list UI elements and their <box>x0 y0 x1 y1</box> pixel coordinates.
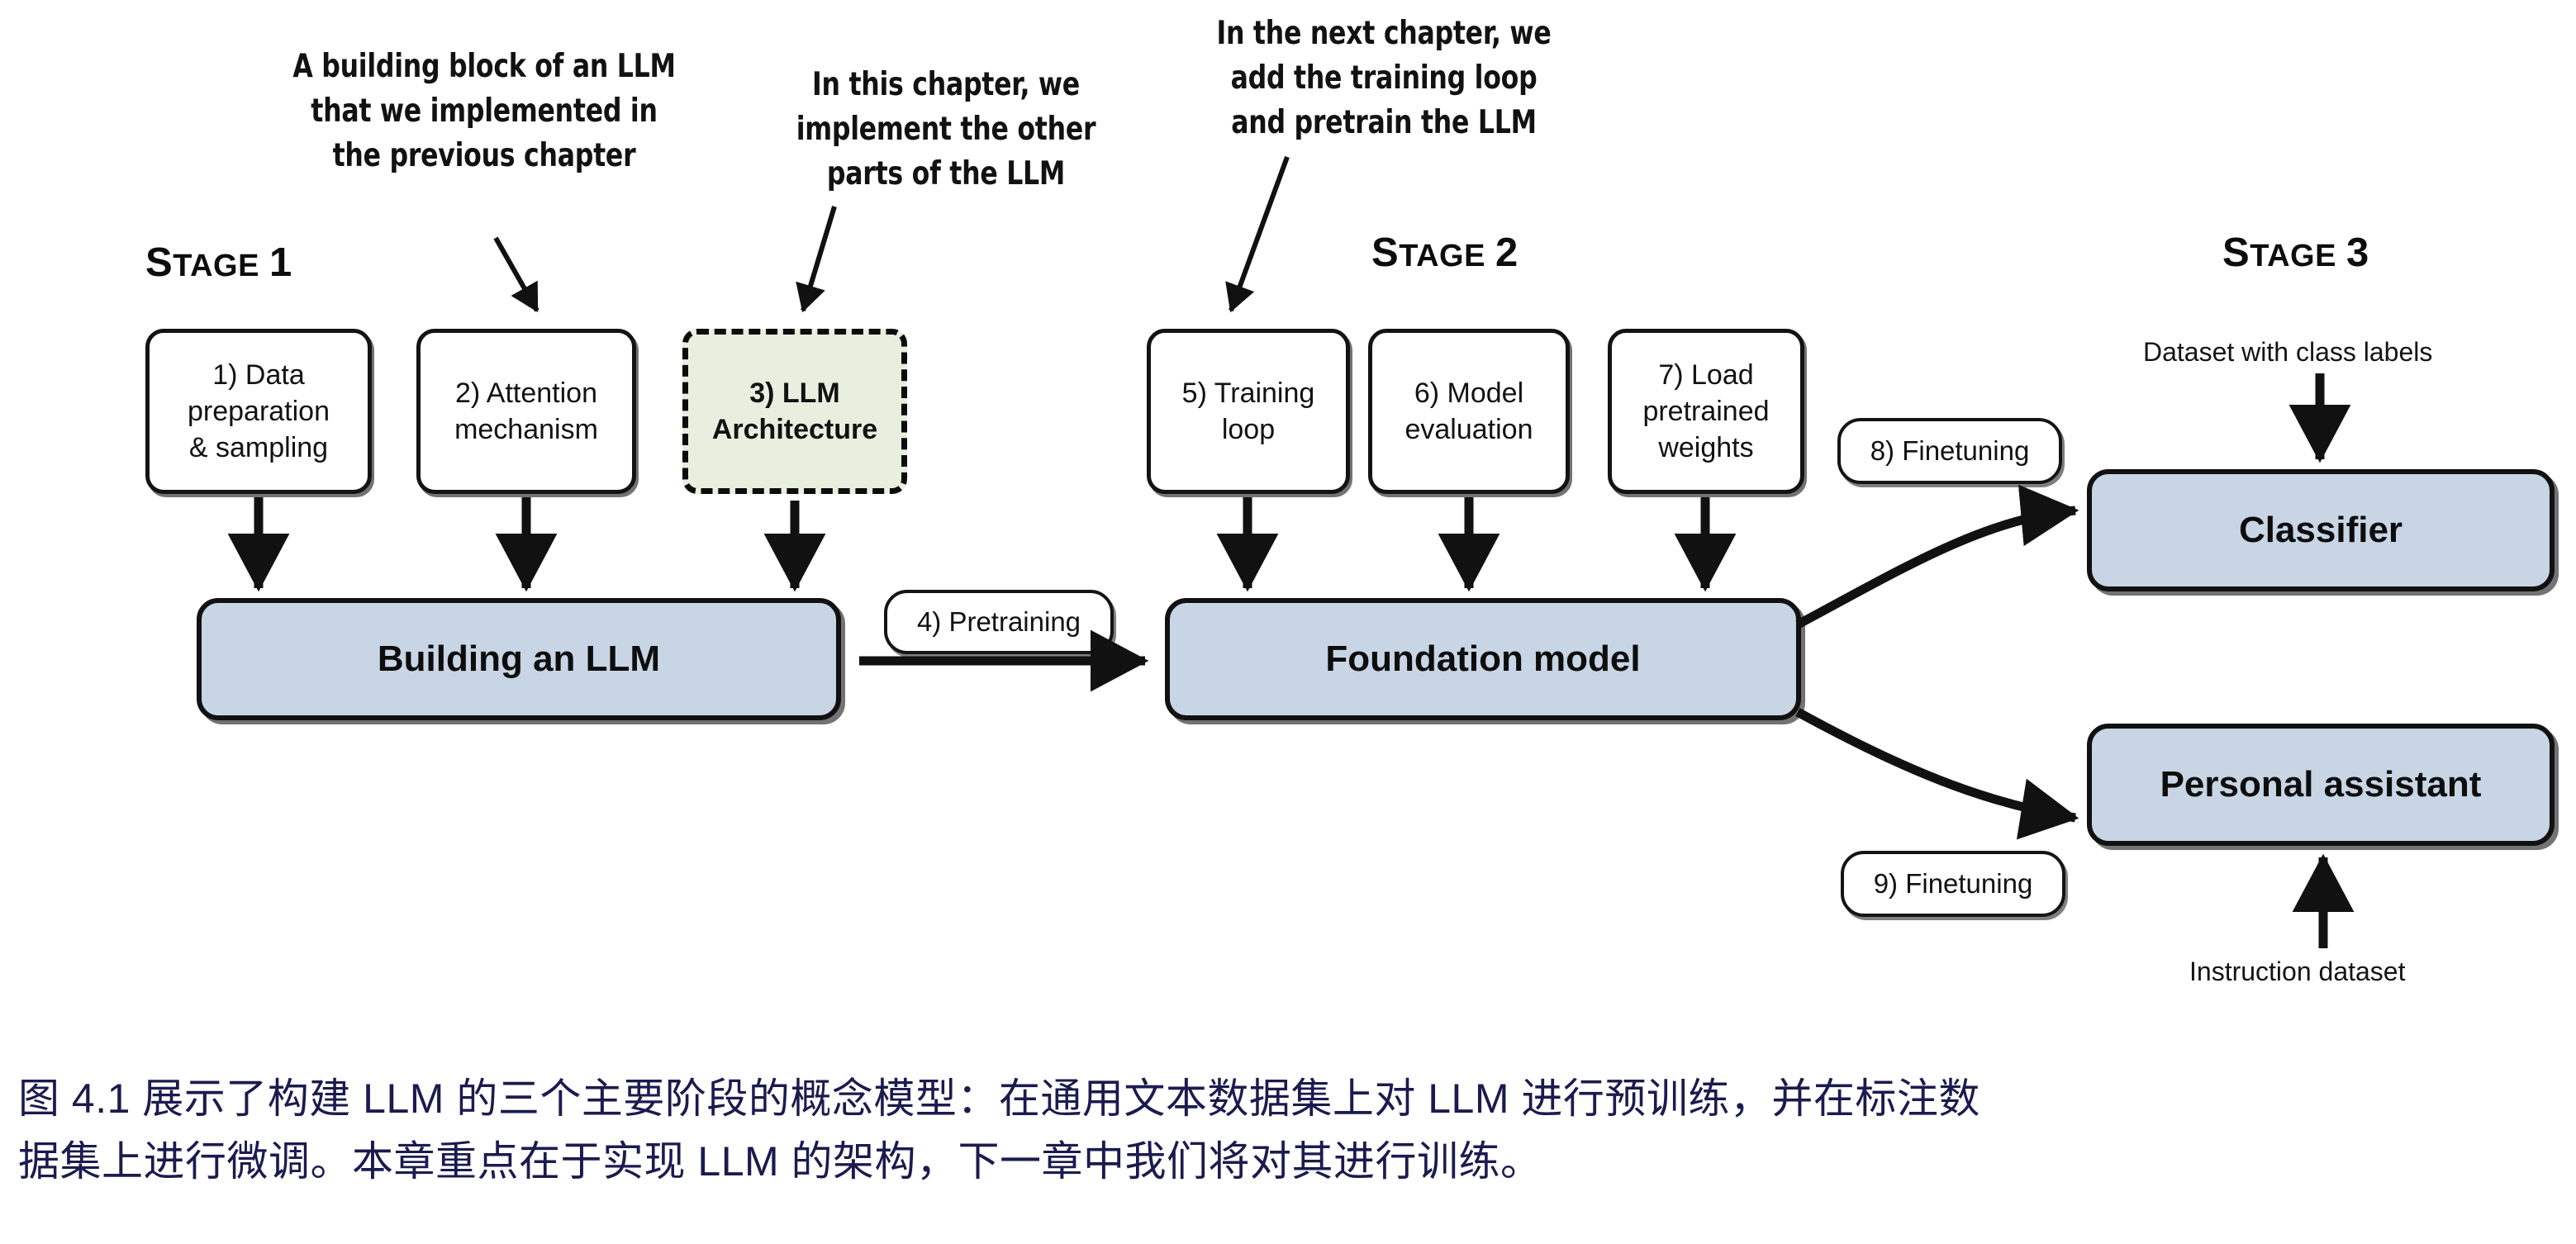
annotation-line: and pretrain the LLM <box>1202 101 1566 145</box>
stage-initial: S <box>2222 230 2250 275</box>
step-line: 6) Model <box>1404 375 1533 411</box>
stage-number: 1 <box>259 240 292 285</box>
dataset-label-text: Instruction dataset <box>2189 957 2405 986</box>
box-personal-assistant: Personal assistant <box>2087 724 2555 846</box>
arrow-foundation-to-assistant <box>1798 712 2075 818</box>
figure-caption: 图 4.1 展示了构建 LLM 的三个主要阶段的概念模型：在通用文本数据集上对 … <box>18 1067 2563 1193</box>
annotation-this-chapter: In this chapter, we implement the other … <box>779 63 1114 196</box>
caption-line-1: 图 4.1 展示了构建 LLM 的三个主要阶段的概念模型：在通用文本数据集上对 … <box>18 1067 2563 1130</box>
pill-label: 9) Finetuning <box>1874 868 2033 900</box>
box-label: Foundation model <box>1325 639 1640 680</box>
step-line: evaluation <box>1404 411 1533 448</box>
step-line: mechanism <box>454 411 598 448</box>
annotation-line: A building block of an LLM <box>276 45 692 89</box>
step-box-llm-architecture: 3) LLM Architecture <box>682 329 907 494</box>
box-label: Personal assistant <box>2160 764 2482 805</box>
step-line: 1) Data <box>188 357 330 393</box>
step-line: & sampling <box>188 430 330 466</box>
step-line: 7) Load <box>1642 357 1769 393</box>
step-box-data-preparation: 1) Data preparation & sampling <box>145 329 372 494</box>
stage-rest: TAGE <box>173 249 259 283</box>
box-label: Building an LLM <box>378 639 660 680</box>
stage-heading-1: STAGE1 <box>145 240 292 286</box>
box-classifier: Classifier <box>2087 469 2555 591</box>
pill-label: 8) Finetuning <box>1870 435 2030 467</box>
annotation-line: In this chapter, we <box>779 63 1114 107</box>
step-box-attention-mechanism: 2) Attention mechanism <box>416 329 636 494</box>
pill-finetuning-8: 8) Finetuning <box>1837 418 2062 484</box>
annotation-arrow-next-chapter <box>1231 157 1287 311</box>
step-line: pretrained <box>1642 393 1769 430</box>
pill-label: 4) Pretraining <box>917 606 1081 638</box>
step-line: 5) Training <box>1182 375 1315 411</box>
stage-number: 3 <box>2336 230 2369 275</box>
annotation-line: In the next chapter, we <box>1202 12 1566 56</box>
annotation-line: parts of the LLM <box>779 152 1114 197</box>
step-box-model-evaluation: 6) Model evaluation <box>1368 329 1570 494</box>
stage-rest: TAGE <box>1399 239 1485 273</box>
annotation-line: implement the other <box>779 107 1114 152</box>
label-dataset-with-class-labels: Dataset with class labels <box>2143 337 2432 368</box>
stage-heading-2: STAGE2 <box>1371 230 1519 276</box>
annotation-next-chapter: In the next chapter, we add the training… <box>1202 12 1566 145</box>
stage-rest: TAGE <box>2250 239 2336 273</box>
step-line: preparation <box>188 393 330 430</box>
annotation-arrow-this-chapter <box>803 207 834 311</box>
step-line: 2) Attention <box>454 375 598 411</box>
step-line: weights <box>1642 430 1769 466</box>
step-box-training-loop: 5) Training loop <box>1147 329 1350 494</box>
label-instruction-dataset: Instruction dataset <box>2189 957 2405 987</box>
box-label: Classifier <box>2239 510 2403 551</box>
stage-number: 2 <box>1485 230 1519 275</box>
arrow-foundation-to-classifier <box>1798 510 2075 624</box>
pill-finetuning-9: 9) Finetuning <box>1841 851 2065 917</box>
stage-initial: S <box>145 240 173 285</box>
box-foundation-model: Foundation model <box>1165 598 1801 720</box>
dataset-label-text: Dataset with class labels <box>2143 337 2432 367</box>
pill-pretraining: 4) Pretraining <box>884 590 1114 654</box>
annotation-line: add the training loop <box>1202 56 1566 101</box>
figure-diagram: A building block of an LLM that we imple… <box>0 0 2576 1049</box>
annotation-previous-chapter: A building block of an LLM that we imple… <box>276 45 692 178</box>
box-building-an-llm: Building an LLM <box>197 598 841 720</box>
step-line: loop <box>1182 411 1315 448</box>
step-line: Architecture <box>712 411 877 448</box>
stage-initial: S <box>1371 230 1399 275</box>
stage-heading-3: STAGE3 <box>2222 230 2369 276</box>
annotation-line: that we implemented in <box>276 89 692 134</box>
annotation-arrow-previous-chapter <box>496 238 537 311</box>
caption-line-2: 据集上进行微调。本章重点在于实现 LLM 的架构，下一章中我们将对其进行训练。 <box>18 1130 2563 1193</box>
step-box-load-pretrained-weights: 7) Load pretrained weights <box>1608 329 1804 494</box>
annotation-line: the previous chapter <box>276 134 692 178</box>
step-line: 3) LLM <box>712 375 877 411</box>
